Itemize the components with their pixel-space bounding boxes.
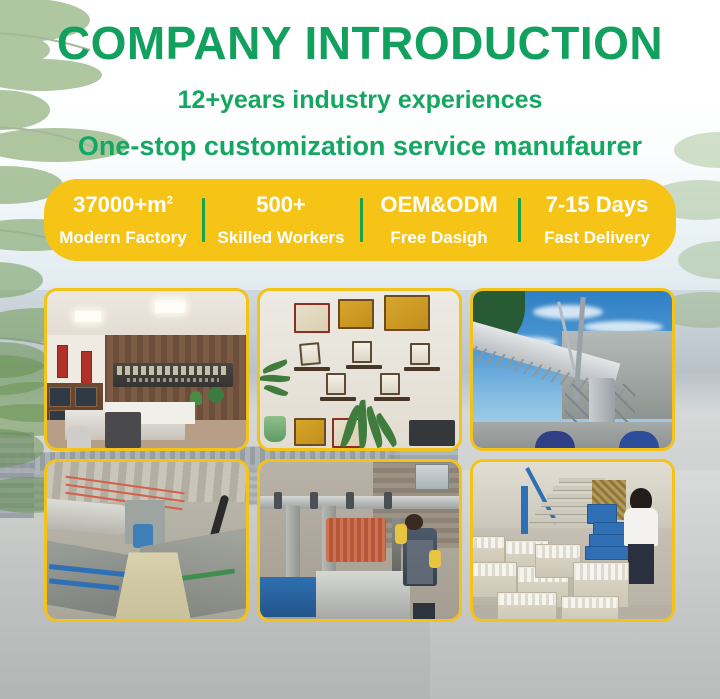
photo-gallery [44, 288, 676, 622]
gallery-row [44, 459, 676, 622]
stat-value-superscript: 2 [167, 195, 173, 207]
stat-skilled-workers: 500+ Skilled Workers [202, 194, 360, 246]
stats-banner: 37000+m2 Modern Factory 500+ Skilled Wor… [44, 179, 676, 261]
page-title: COMPANY INTRODUCTION [0, 0, 720, 66]
stat-label: Skilled Workers [204, 229, 358, 246]
certificates-wall-photo[interactable] [257, 288, 462, 451]
stat-value: 37000+m2 [46, 194, 200, 216]
company-introduction-page: COMPANY INTRODUCTION 12+years industry e… [0, 0, 720, 699]
stat-oem-odm: OEM&ODM Free Dasigh [360, 194, 518, 246]
stat-fast-delivery: 7-15 Days Fast Delivery [518, 194, 676, 246]
stat-value: OEM&ODM [362, 194, 516, 216]
subtitle-experience: 12+years industry experiences [0, 88, 720, 113]
subtitle-service: One-stop customization service manufaure… [0, 133, 720, 160]
stat-label: Fast Delivery [520, 229, 674, 246]
header-block: COMPANY INTRODUCTION 12+years industry e… [0, 0, 720, 160]
photo-content [260, 291, 459, 448]
stat-label: Free Dasigh [362, 229, 516, 246]
plating-line-photo[interactable] [44, 459, 249, 622]
photo-content [47, 291, 246, 448]
stat-label: Modern Factory [46, 229, 200, 246]
stat-modern-factory: 37000+m2 Modern Factory [44, 194, 202, 246]
photo-content [47, 462, 246, 619]
gallery-row [44, 288, 676, 451]
photo-content [473, 291, 672, 448]
photo-content [473, 462, 672, 619]
stat-value: 7-15 Days [520, 194, 674, 216]
photo-content [260, 462, 459, 619]
industrial-plant-photo[interactable] [470, 288, 675, 451]
worker-plating-photo[interactable] [257, 459, 462, 622]
stat-value-base: 37000+m [73, 192, 167, 217]
stat-value: 500+ [204, 194, 358, 216]
packing-warehouse-photo[interactable] [470, 459, 675, 622]
office-reception-photo[interactable] [44, 288, 249, 451]
